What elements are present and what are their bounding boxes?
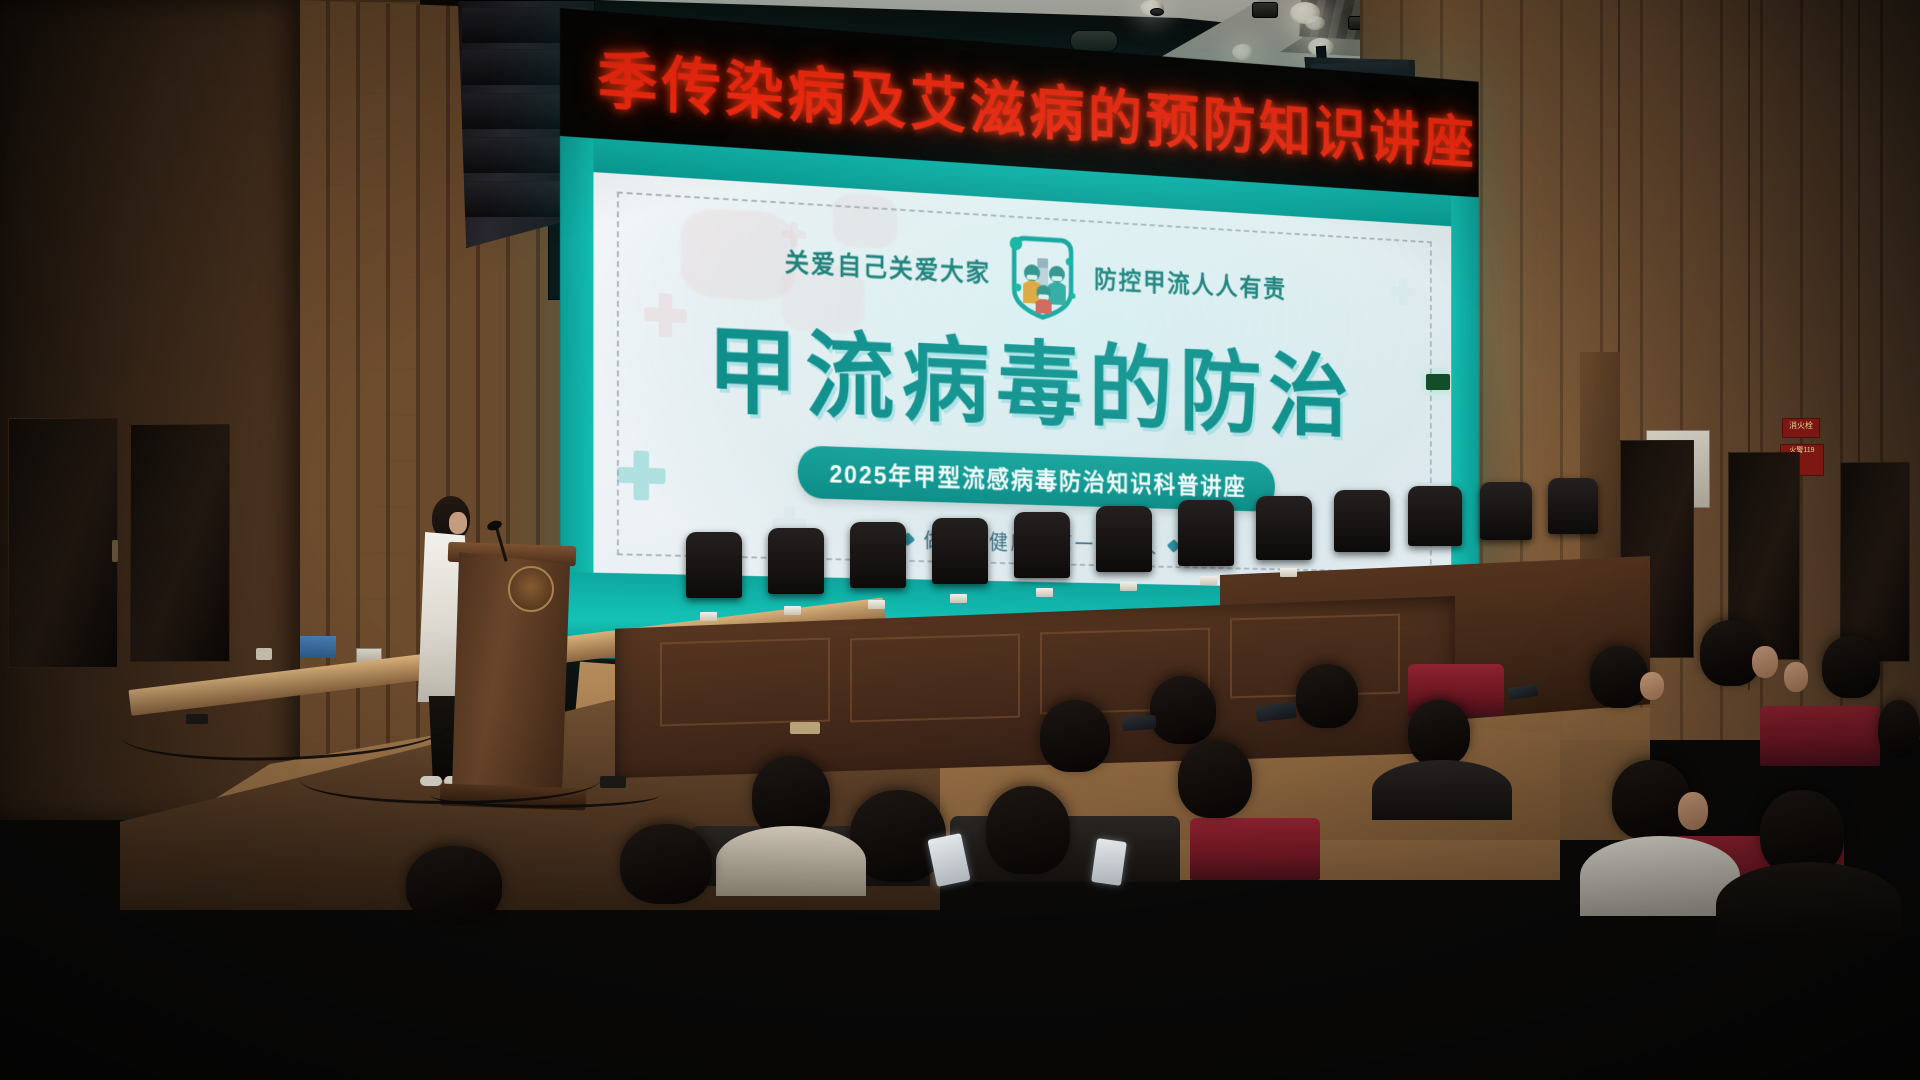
head-table-chair (1480, 482, 1532, 540)
tagline-right: 防控甲流人人有责 (1094, 260, 1287, 305)
family-shield-icon (1000, 223, 1085, 326)
door-left-1[interactable] (8, 418, 118, 668)
audience-seat (1760, 706, 1880, 766)
head-table-chair (1178, 500, 1234, 566)
table-nameplate (950, 594, 967, 603)
table-panel-carving (660, 638, 830, 727)
head-table-chair (932, 518, 988, 584)
table-nameplate (1200, 576, 1217, 585)
audience-head (1590, 646, 1648, 708)
head-table-chair (686, 532, 742, 598)
fire-hydrant-sign: 消火栓 (1782, 418, 1820, 438)
table-panel-carving (850, 634, 1020, 723)
smartphone-screen[interactable] (1091, 838, 1127, 886)
audience-shoulders (716, 826, 866, 896)
head-table-chair (768, 528, 824, 594)
audience-head (1296, 664, 1358, 728)
audience-head (1408, 700, 1470, 766)
audience-head (1612, 760, 1690, 840)
head-table-chair (1096, 506, 1152, 572)
head-table-chair (1548, 478, 1598, 534)
audience-head (1822, 636, 1880, 698)
table-nameplate (1036, 588, 1053, 597)
audience-face (1752, 646, 1778, 678)
table-nameplate (1120, 582, 1137, 591)
ceiling-smoke-detector (1150, 8, 1164, 16)
head-table-chair (1014, 512, 1070, 578)
audience-face (1678, 792, 1708, 830)
audience-head (1878, 700, 1920, 758)
audience-face (1784, 662, 1808, 692)
door-handle[interactable] (112, 540, 118, 562)
wall-outlet (256, 648, 272, 660)
door-right-3[interactable] (1840, 462, 1910, 662)
podium-emblem (508, 566, 554, 612)
door-left-2[interactable] (130, 424, 230, 662)
audience-head (1040, 700, 1110, 772)
lecture-hall-photo: 季传染病及艾滋病的预防知识讲座 关爱自己关爱大家 (0, 0, 1920, 1080)
audience-head (406, 846, 502, 924)
audience-shoulders (1372, 760, 1512, 820)
cable-connector-box (600, 776, 626, 788)
ceiling-light (1232, 44, 1254, 60)
cable-connector-box (186, 714, 208, 724)
floor-object (790, 722, 820, 734)
head-table-chair (850, 522, 906, 588)
audience-shoulders (1716, 862, 1902, 948)
audience-head (1178, 740, 1252, 818)
table-nameplate (700, 612, 717, 621)
head-table-chair (1408, 486, 1462, 546)
audience-seat (1190, 818, 1320, 880)
audience-head (1150, 676, 1216, 744)
exit-sign (1426, 374, 1450, 390)
tagline-left: 关爱自己关爱大家 (785, 243, 991, 290)
table-nameplate (784, 606, 801, 615)
ceiling-light (1305, 16, 1325, 30)
head-table-chair (1334, 490, 1390, 552)
table-nameplate (868, 600, 885, 609)
wall-plaque (300, 636, 336, 658)
smartphone[interactable] (1122, 715, 1157, 731)
slide-title: 甲流病毒的防治 (707, 322, 1355, 445)
table-nameplate (1280, 568, 1297, 577)
audience-head (986, 786, 1070, 874)
slide-tagline-row: 关爱自己关爱大家 (785, 210, 1287, 336)
head-table-chair (1256, 496, 1312, 560)
presenter-face (449, 512, 467, 534)
audience-head (620, 824, 712, 904)
audience-face (1640, 672, 1664, 700)
ceiling-spotlight (1252, 2, 1278, 18)
